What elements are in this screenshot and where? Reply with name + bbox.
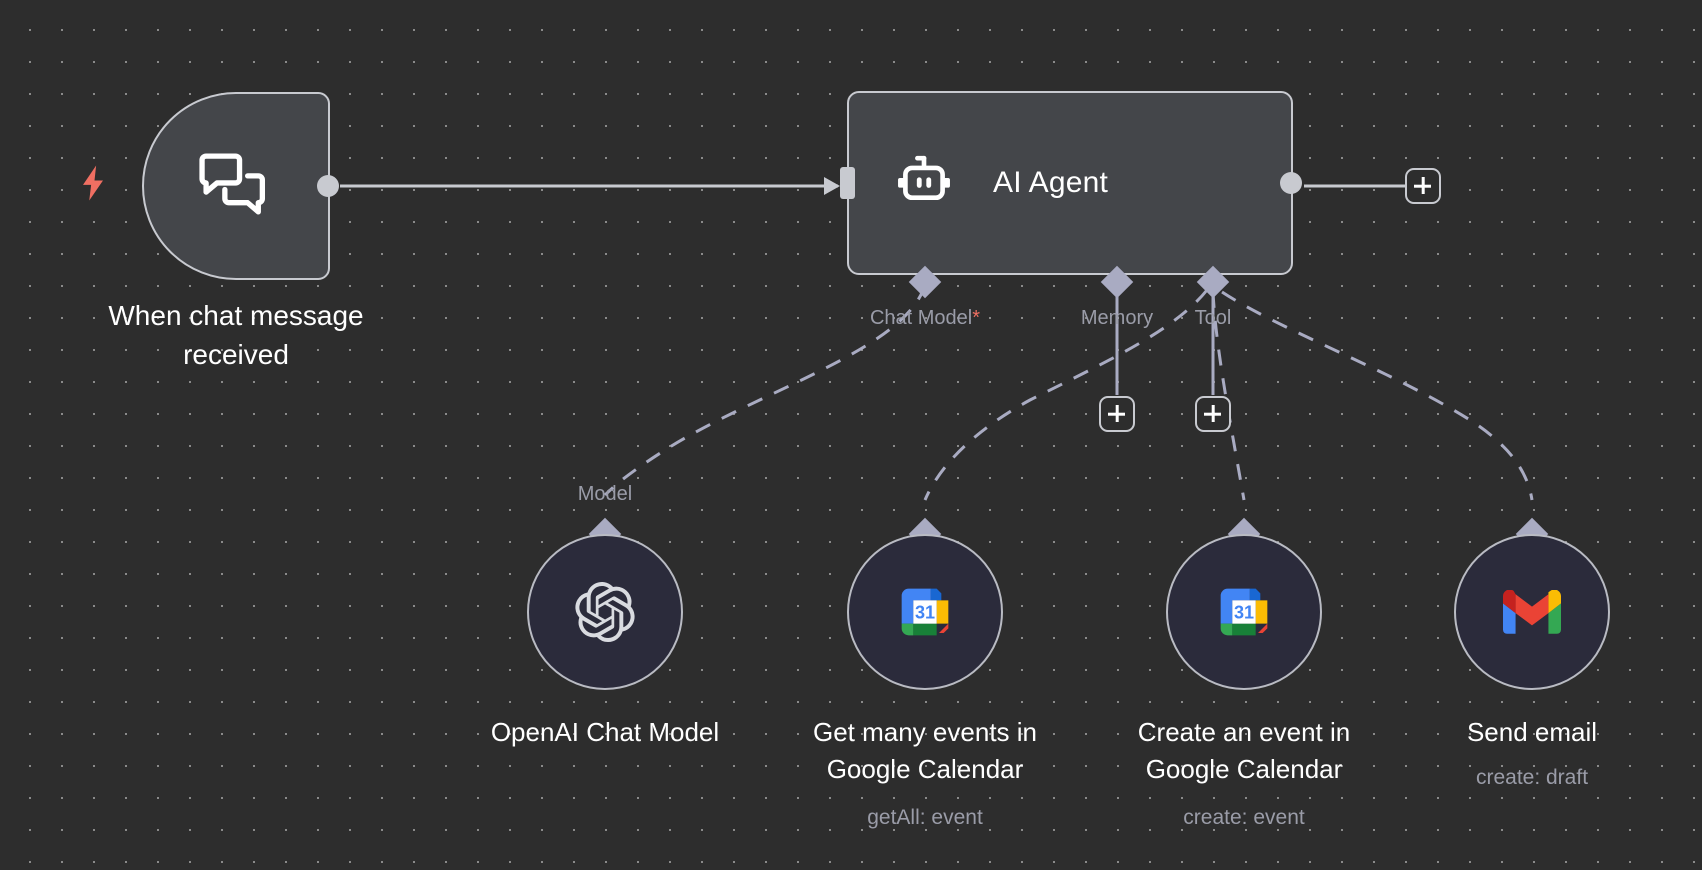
- openai-chat-model-label: OpenAI Chat Model: [491, 714, 719, 751]
- google-calendar-icon: 31: [894, 581, 956, 643]
- svg-text:31: 31: [915, 602, 935, 622]
- ai-agent-node[interactable]: AI Agent: [847, 91, 1293, 275]
- openai-chat-model-node[interactable]: [527, 534, 683, 690]
- wire-arrow-agent-input: [824, 177, 840, 195]
- gmail-icon: [1501, 581, 1563, 643]
- get-many-events-subtitle: getAll: event: [867, 806, 983, 830]
- port-label-chat-model: Chat Model*: [870, 307, 980, 330]
- send-email-subtitle: create: draft: [1476, 766, 1588, 790]
- lightning-bolt-icon: [78, 165, 108, 201]
- robot-icon: [893, 152, 955, 214]
- agent-input-port[interactable]: [840, 167, 855, 199]
- required-asterisk: *: [972, 307, 980, 329]
- port-label-tool: Tool: [1195, 307, 1232, 330]
- openai-icon: [574, 581, 636, 643]
- svg-text:31: 31: [1234, 602, 1254, 622]
- chat-bubbles-icon: [198, 148, 274, 224]
- create-an-event-node[interactable]: 31: [1166, 534, 1322, 690]
- trigger-output-port[interactable]: [317, 175, 339, 197]
- agent-output-port[interactable]: [1280, 172, 1302, 194]
- get-many-events-node[interactable]: 31: [847, 534, 1003, 690]
- google-calendar-icon: 31: [1213, 581, 1275, 643]
- port-label-chat-model-text: Chat Model: [870, 307, 972, 329]
- port-label-memory: Memory: [1081, 307, 1153, 330]
- get-many-events-label: Get many events in Google Calendar: [813, 714, 1037, 788]
- ai-agent-title: AI Agent: [993, 166, 1108, 200]
- add-node-button[interactable]: [1405, 168, 1441, 204]
- send-email-node[interactable]: [1454, 534, 1610, 690]
- port-label-model: Model: [578, 483, 632, 506]
- wire-tool-to-send-email: [1222, 292, 1532, 500]
- trigger-node[interactable]: [142, 92, 330, 280]
- add-tool-button[interactable]: [1195, 396, 1231, 432]
- workflow-canvas[interactable]: When chat message received AI Agent Chat…: [0, 0, 1702, 870]
- add-memory-button[interactable]: [1099, 396, 1135, 432]
- create-an-event-subtitle: create: event: [1183, 806, 1304, 830]
- send-email-label: Send email: [1467, 714, 1597, 751]
- create-an-event-label: Create an event in Google Calendar: [1138, 714, 1350, 788]
- trigger-node-label: When chat message received: [108, 297, 363, 374]
